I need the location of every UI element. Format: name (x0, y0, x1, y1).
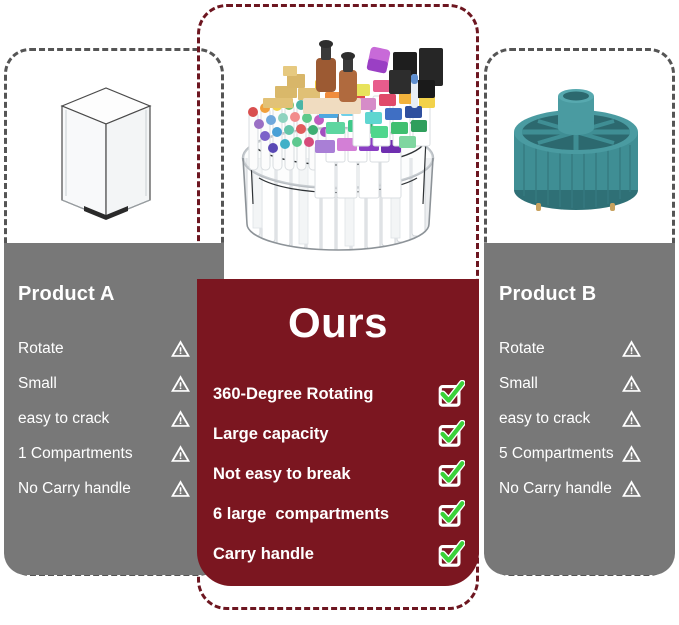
check-icon (437, 420, 465, 448)
feature-label: 6 large compartments (213, 505, 389, 524)
feature-label: Large capacity (213, 425, 329, 444)
feature-label: 360-Degree Rotating (213, 385, 373, 404)
product-a-feature-list: Rotate Small easy to crack (4, 331, 224, 506)
list-item: 360-Degree Rotating (197, 374, 479, 414)
ours-panel: Ours 360-Degree Rotating Large capacity (197, 279, 479, 586)
check-icon (437, 540, 465, 568)
list-item: 1 Compartments (4, 436, 224, 471)
feature-label: Carry handle (213, 545, 314, 564)
warning-icon (170, 374, 191, 393)
ours-feature-list: 360-Degree Rotating Large capacity Not e… (197, 374, 479, 574)
warning-icon (170, 339, 191, 358)
check-icon (437, 380, 465, 408)
warning-icon (170, 409, 191, 428)
feature-label: easy to crack (499, 410, 590, 428)
product-b-feature-list: Rotate Small easy to crack (484, 331, 675, 506)
warning-icon (621, 374, 642, 393)
list-item: Carry handle (197, 534, 479, 574)
product-a-panel: Product A Rotate Small (4, 243, 224, 575)
list-item: Small (484, 366, 675, 401)
warning-icon (170, 444, 191, 463)
feature-label: easy to crack (18, 410, 109, 428)
warning-icon (621, 409, 642, 428)
warning-icon (170, 479, 191, 498)
feature-label: No Carry handle (18, 480, 131, 498)
feature-label: 1 Compartments (18, 445, 133, 463)
feature-label: No Carry handle (499, 480, 612, 498)
list-item: easy to crack (4, 401, 224, 436)
warning-icon (621, 479, 642, 498)
comparison-infographic: Product A Rotate Small (0, 0, 679, 625)
feature-label: Rotate (499, 340, 545, 358)
check-icon (437, 460, 465, 488)
list-item: No Carry handle (484, 471, 675, 506)
warning-icon (621, 339, 642, 358)
product-a-title: Product A (18, 283, 115, 306)
feature-label: 5 Compartments (499, 445, 614, 463)
list-item: Not easy to break (197, 454, 479, 494)
list-item: Rotate (484, 331, 675, 366)
list-item: 6 large compartments (197, 494, 479, 534)
feature-label: Small (499, 375, 538, 393)
feature-label: Small (18, 375, 57, 393)
list-item: Small (4, 366, 224, 401)
list-item: Large capacity (197, 414, 479, 454)
list-item: No Carry handle (4, 471, 224, 506)
product-b-title: Product B (499, 283, 596, 306)
product-b-panel: Product B Rotate Small (484, 243, 675, 575)
list-item: 5 Compartments (484, 436, 675, 471)
feature-label: Not easy to break (213, 465, 351, 484)
warning-icon (621, 444, 642, 463)
check-icon (437, 500, 465, 528)
ours-title: Ours (197, 299, 479, 347)
feature-label: Rotate (18, 340, 64, 358)
list-item: easy to crack (484, 401, 675, 436)
list-item: Rotate (4, 331, 224, 366)
